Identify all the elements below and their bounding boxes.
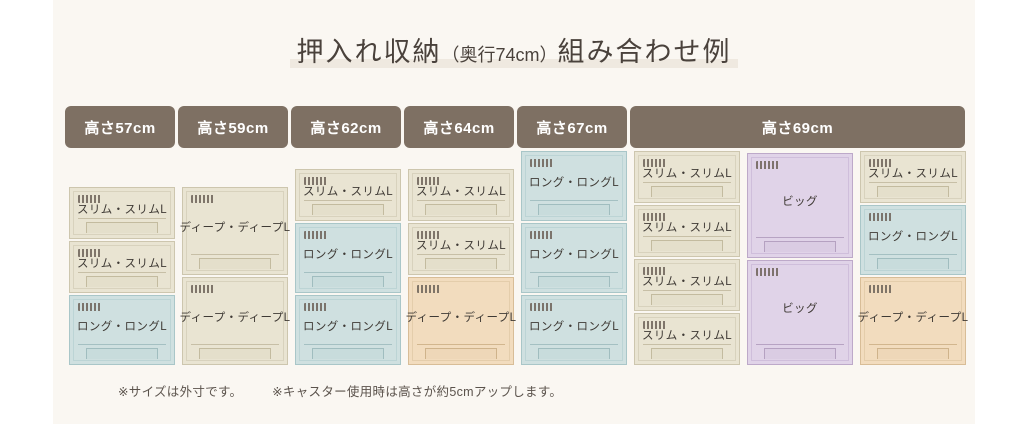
- drawer-unit[interactable]: ビッグ: [747, 153, 853, 258]
- drawer-handle[interactable]: [538, 276, 610, 287]
- drawer-handle[interactable]: [86, 222, 158, 233]
- drawer-unit[interactable]: ロング・ロングL: [860, 205, 966, 275]
- drawer-face: ロング・ロングL: [864, 209, 962, 271]
- height-header-1: 高さ59cm: [178, 106, 288, 148]
- footnote-caster: ※キャスター使用時は高さが約5cmアップします。: [272, 385, 562, 399]
- drawer-handle[interactable]: [651, 348, 723, 359]
- drawer-divider: [756, 344, 844, 345]
- drawer-divider: [304, 200, 392, 201]
- fits-logo-icon: [417, 231, 440, 239]
- combination-example-card: 押入れ収納（奥行74cm）組み合わせ例 高さ57cm高さ59cm高さ62cm高さ…: [53, 0, 975, 424]
- drawer-unit[interactable]: ロング・ロングL: [521, 295, 627, 365]
- drawer-handle[interactable]: [312, 348, 384, 359]
- drawer-unit[interactable]: ディープ・ディープL: [408, 277, 514, 365]
- fits-logo-icon: [530, 159, 553, 167]
- title-text-main-after: 組み合わせ例: [558, 37, 732, 67]
- fits-logo-icon: [869, 213, 892, 221]
- combination-column-2: スリム・スリムLロング・ロングLロング・ロングL: [295, 169, 401, 365]
- drawer-unit[interactable]: ロング・ロングL: [295, 295, 401, 365]
- drawer-divider: [530, 344, 618, 345]
- drawer-unit[interactable]: ロング・ロングL: [521, 223, 627, 293]
- page-title: 押入れ収納（奥行74cm）組み合わせ例: [290, 30, 737, 69]
- drawer-unit[interactable]: スリム・スリムL: [634, 259, 740, 311]
- combination-column-6: ビッグビッグ: [747, 153, 853, 365]
- footnote-size: ※サイズは外寸です。: [118, 385, 242, 399]
- drawer-handle[interactable]: [425, 348, 497, 359]
- drawer-face: ディープ・ディープL: [186, 191, 284, 271]
- drawer-face: ロング・ロングL: [525, 227, 623, 289]
- title-text-main-before: 押入れ収納: [296, 37, 441, 67]
- combination-column-1: ディープ・ディープLディープ・ディープL: [182, 187, 288, 365]
- drawer-divider: [78, 218, 166, 219]
- drawer-handle[interactable]: [877, 258, 949, 269]
- height-header-2: 高さ62cm: [291, 106, 401, 148]
- drawer-unit[interactable]: スリム・スリムL: [860, 151, 966, 203]
- drawer-unit[interactable]: スリム・スリムL: [634, 313, 740, 365]
- drawer-face: スリム・スリムL: [73, 245, 171, 289]
- fits-logo-icon: [643, 267, 666, 275]
- drawer-handle[interactable]: [86, 276, 158, 287]
- drawer-unit[interactable]: ロング・ロングL: [295, 223, 401, 293]
- drawer-unit[interactable]: スリム・スリムL: [408, 223, 514, 275]
- drawer-divider: [191, 254, 279, 255]
- title-text-depth: （奥行74cm）: [441, 45, 557, 65]
- fits-logo-icon: [756, 161, 779, 169]
- drawer-divider: [304, 344, 392, 345]
- drawer-divider: [643, 344, 731, 345]
- drawer-handle[interactable]: [877, 348, 949, 359]
- drawer-handle[interactable]: [651, 240, 723, 251]
- drawer-divider: [756, 237, 844, 238]
- drawer-handle[interactable]: [312, 204, 384, 215]
- fits-logo-icon: [417, 177, 440, 185]
- drawer-face: スリム・スリムL: [638, 155, 736, 199]
- fits-logo-icon: [304, 177, 327, 185]
- drawer-unit[interactable]: スリム・スリムL: [295, 169, 401, 221]
- drawer-name-label: ビッグ: [752, 158, 848, 237]
- combination-columns: スリム・スリムLスリム・スリムLロング・ロングLディープ・ディープLディープ・デ…: [65, 150, 965, 365]
- drawer-handle[interactable]: [538, 204, 610, 215]
- drawer-face: スリム・スリムL: [864, 155, 962, 199]
- drawer-face: ロング・ロングL: [299, 227, 397, 289]
- fits-logo-icon: [530, 231, 553, 239]
- drawer-handle[interactable]: [86, 348, 158, 359]
- drawer-face: スリム・スリムL: [412, 227, 510, 271]
- drawer-handle[interactable]: [538, 348, 610, 359]
- drawer-unit[interactable]: スリム・スリムL: [634, 151, 740, 203]
- height-header-0: 高さ57cm: [65, 106, 175, 148]
- fits-logo-icon: [78, 303, 101, 311]
- drawer-face: スリム・スリムL: [412, 173, 510, 217]
- drawer-face: ロング・ロングL: [525, 155, 623, 217]
- fits-logo-icon: [304, 231, 327, 239]
- drawer-divider: [869, 182, 957, 183]
- fits-logo-icon: [78, 249, 101, 257]
- drawer-unit[interactable]: スリム・スリムL: [408, 169, 514, 221]
- drawer-handle[interactable]: [764, 348, 836, 359]
- drawer-divider: [417, 254, 505, 255]
- height-header-5: 高さ69cm: [630, 106, 965, 148]
- fits-logo-icon: [417, 285, 440, 293]
- drawer-unit[interactable]: スリム・スリムL: [69, 241, 175, 293]
- drawer-divider: [304, 272, 392, 273]
- drawer-unit[interactable]: スリム・スリムL: [634, 205, 740, 257]
- fits-logo-icon: [643, 159, 666, 167]
- drawer-name-label: ビッグ: [752, 265, 848, 344]
- footnotes: ※サイズは外寸です。 ※キャスター使用時は高さが約5cmアップします。: [118, 381, 562, 400]
- fits-logo-icon: [869, 159, 892, 167]
- drawer-divider: [530, 200, 618, 201]
- drawer-divider: [643, 290, 731, 291]
- drawer-divider: [417, 344, 505, 345]
- combination-column-0: スリム・スリムLスリム・スリムLロング・ロングL: [69, 187, 175, 365]
- drawer-face: スリム・スリムL: [638, 263, 736, 307]
- drawer-face: ディープ・ディープL: [864, 281, 962, 361]
- drawer-unit[interactable]: ロング・ロングL: [69, 295, 175, 365]
- drawer-unit[interactable]: ロング・ロングL: [521, 151, 627, 221]
- fits-logo-icon: [756, 268, 779, 276]
- fits-logo-icon: [78, 195, 101, 203]
- combination-column-7: スリム・スリムLロング・ロングLディープ・ディープL: [860, 151, 966, 365]
- drawer-face: スリム・スリムL: [299, 173, 397, 217]
- drawer-face: ロング・ロングL: [73, 299, 171, 361]
- height-header-4: 高さ67cm: [517, 106, 627, 148]
- drawer-face: ロング・ロングL: [525, 299, 623, 361]
- fits-logo-icon: [304, 303, 327, 311]
- drawer-face: ディープ・ディープL: [186, 281, 284, 361]
- drawer-unit[interactable]: ディープ・ディープL: [182, 277, 288, 365]
- drawer-divider: [78, 344, 166, 345]
- drawer-unit[interactable]: ディープ・ディープL: [182, 187, 288, 275]
- drawer-unit[interactable]: ビッグ: [747, 260, 853, 365]
- combination-column-5: スリム・スリムLスリム・スリムLスリム・スリムLスリム・スリムL: [634, 151, 740, 365]
- drawer-divider: [530, 272, 618, 273]
- fits-logo-icon: [643, 321, 666, 329]
- drawer-divider: [417, 200, 505, 201]
- drawer-handle[interactable]: [199, 348, 271, 359]
- fits-logo-icon: [191, 195, 214, 203]
- drawer-divider: [78, 272, 166, 273]
- height-header-3: 高さ64cm: [404, 106, 514, 148]
- drawer-face: スリム・スリムL: [73, 191, 171, 235]
- drawer-unit[interactable]: スリム・スリムL: [69, 187, 175, 239]
- fits-logo-icon: [191, 285, 214, 293]
- drawer-face: スリム・スリムL: [638, 209, 736, 253]
- drawer-divider: [643, 182, 731, 183]
- fits-logo-icon: [643, 213, 666, 221]
- drawer-face: ビッグ: [751, 264, 849, 361]
- fits-logo-icon: [869, 285, 892, 293]
- drawer-divider: [191, 344, 279, 345]
- drawer-handle[interactable]: [651, 186, 723, 197]
- drawer-face: ロング・ロングL: [299, 299, 397, 361]
- title-container: 押入れ収納（奥行74cm）組み合わせ例: [53, 30, 975, 69]
- drawer-face: ビッグ: [751, 157, 849, 254]
- fits-logo-icon: [530, 303, 553, 311]
- drawer-face: ディープ・ディープL: [412, 281, 510, 361]
- drawer-handle[interactable]: [425, 204, 497, 215]
- drawer-handle[interactable]: [877, 186, 949, 197]
- drawer-divider: [869, 254, 957, 255]
- height-header-row: 高さ57cm高さ59cm高さ62cm高さ64cm高さ67cm高さ69cm: [65, 106, 965, 148]
- drawer-handle[interactable]: [199, 258, 271, 269]
- drawer-face: スリム・スリムL: [638, 317, 736, 361]
- combination-column-3: スリム・スリムLスリム・スリムLディープ・ディープL: [408, 169, 514, 365]
- drawer-divider: [643, 236, 731, 237]
- combination-column-4: ロング・ロングLロング・ロングLロング・ロングL: [521, 151, 627, 365]
- drawer-handle[interactable]: [425, 258, 497, 269]
- drawer-unit[interactable]: ディープ・ディープL: [860, 277, 966, 365]
- drawer-handle[interactable]: [312, 276, 384, 287]
- drawer-handle[interactable]: [764, 241, 836, 252]
- drawer-divider: [869, 344, 957, 345]
- drawer-handle[interactable]: [651, 294, 723, 305]
